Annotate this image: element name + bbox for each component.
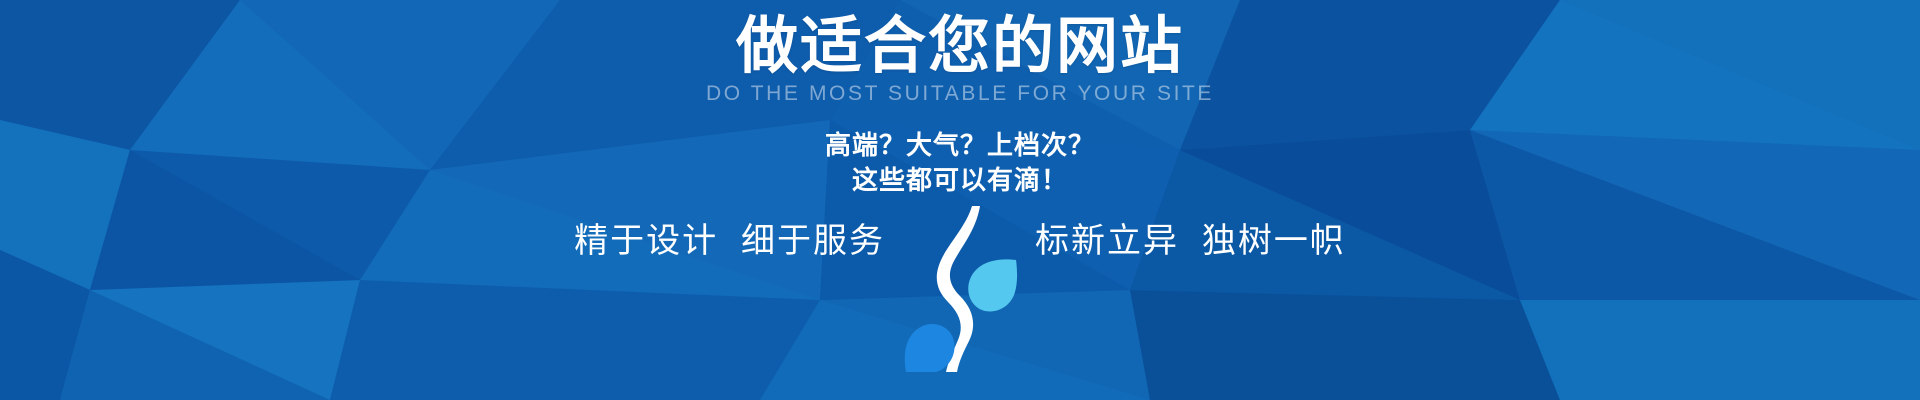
page-title: 做适合您的网站: [0, 14, 1920, 80]
sprout-logo-icon: [900, 204, 1020, 374]
page-subtitle: DO THE MOST SUITABLE FOR YOUR SITE: [0, 82, 1920, 105]
headline-block: 做适合您的网站 DO THE MOST SUITABLE FOR YOUR SI…: [0, 14, 1920, 105]
question-line-2: 这些都可以有滴！: [0, 163, 1920, 198]
logo-slot: [885, 218, 1035, 374]
slogan-row: 精于设计 细于服务 标新立异 独树一帜: [0, 218, 1920, 288]
slogan-left: 精于设计 细于服务: [525, 218, 885, 258]
banner-content: 做适合您的网站 DO THE MOST SUITABLE FOR YOUR SI…: [0, 0, 1920, 400]
question-line-1: 高端？大气？上档次？: [0, 128, 1920, 163]
question-block: 高端？大气？上档次？ 这些都可以有滴！: [0, 128, 1920, 198]
hero-banner: 做适合您的网站 DO THE MOST SUITABLE FOR YOUR SI…: [0, 0, 1920, 400]
slogan-right: 标新立异 独树一帜: [1035, 218, 1395, 258]
